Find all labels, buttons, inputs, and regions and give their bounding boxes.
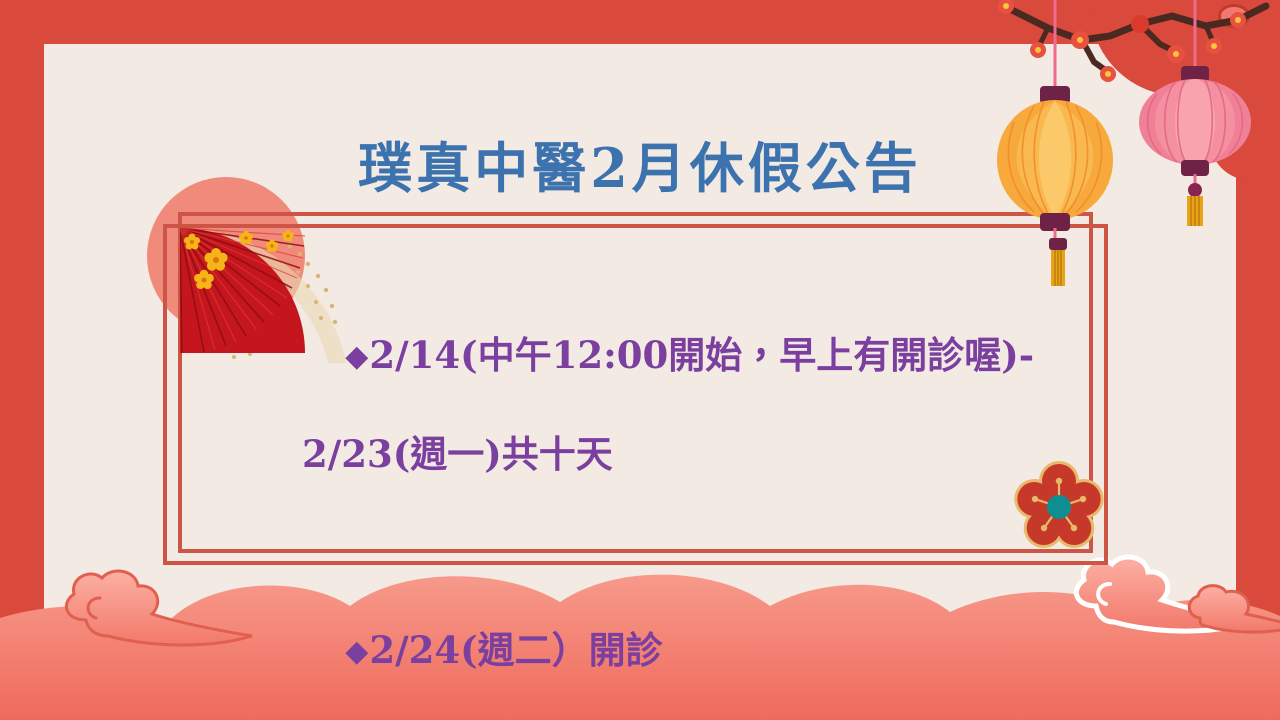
diamond-bullet-icon: ◆ bbox=[345, 627, 368, 676]
list-item: ◆2/14(中午12:00開始，早上有開診喔)- 2/23(週一)共十天 bbox=[268, 282, 1068, 577]
list-item-text: 2/14(中午12:00開始，早上有開診喔)- bbox=[369, 333, 1034, 377]
list-item-text-cont: 2/23(週一)共十天 bbox=[268, 430, 1068, 479]
poster-canvas: 璞真中醫2月休假公告 ◆2/14(中午12:00開始，早上有開診喔)- 2/23… bbox=[0, 0, 1280, 720]
announcement-list: ◆2/14(中午12:00開始，早上有開診喔)- 2/23(週一)共十天 ◆2/… bbox=[268, 282, 1068, 720]
page-title: 璞真中醫2月休假公告 bbox=[0, 124, 1280, 203]
list-item: ◆2/24(週二）開診 bbox=[268, 577, 1068, 720]
list-item-text: 2/24(週二）開診 bbox=[369, 628, 662, 672]
diamond-bullet-icon: ◆ bbox=[345, 332, 368, 381]
